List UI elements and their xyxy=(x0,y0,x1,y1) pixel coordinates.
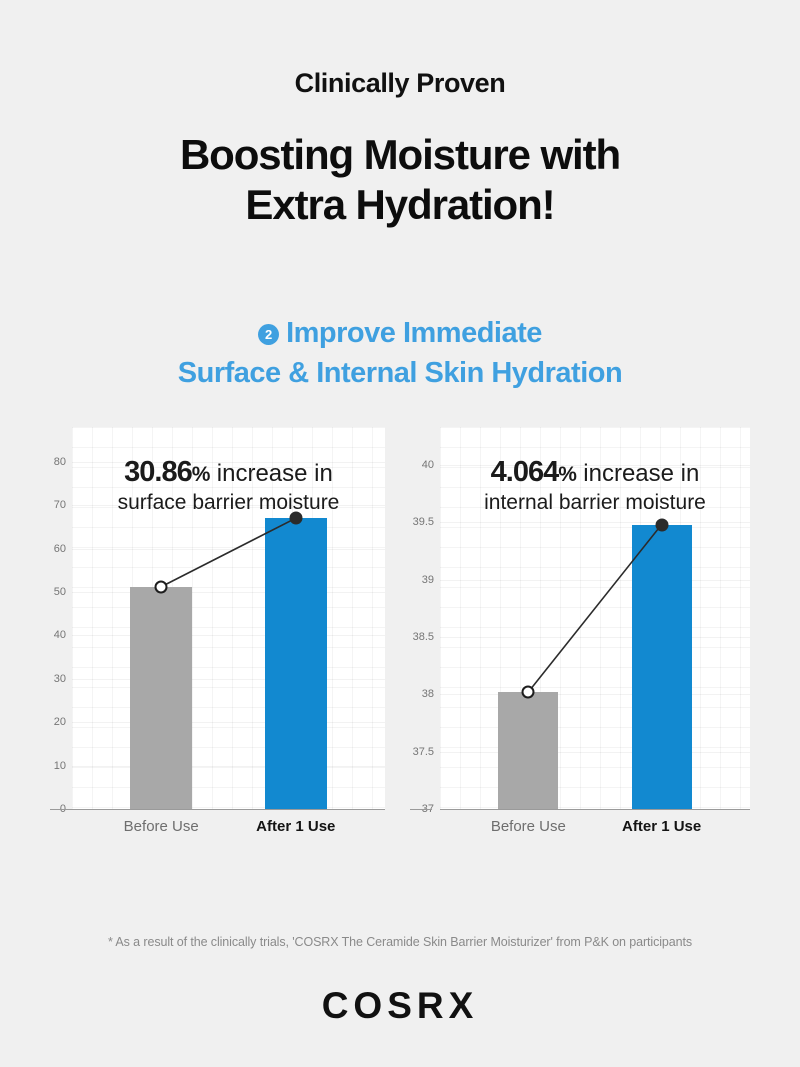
annotation-percent-left: % xyxy=(192,463,210,486)
y-axis-tick-label: 70 xyxy=(54,499,66,511)
x-axis-tail-left xyxy=(50,809,72,810)
x-axis-line-right xyxy=(440,809,750,810)
y-axis-tick-label: 40 xyxy=(422,459,434,471)
gridline xyxy=(72,679,385,680)
y-axis-tick-label: 60 xyxy=(54,543,66,555)
data-point-marker-after-1-use xyxy=(655,518,668,531)
gridline xyxy=(440,694,750,695)
x-axis-label-before-use: Before Use xyxy=(124,818,199,835)
gridline xyxy=(440,637,750,638)
annotation-line-2-left: surface barrier moisture xyxy=(72,490,385,516)
annotation-line-2-right: internal barrier moisture xyxy=(440,490,750,516)
x-axis-label-before-use: Before Use xyxy=(491,818,566,835)
y-axis-tick-label: 10 xyxy=(54,760,66,772)
y-axis-tick-label: 38.5 xyxy=(413,631,434,643)
y-axis-tick-label: 20 xyxy=(54,716,66,728)
chart-annotation-left: 30.86% increase in surface barrier moist… xyxy=(72,455,385,516)
charts-container: 30.86% increase in surface barrier moist… xyxy=(0,427,800,842)
chart-surface-barrier-moisture: 30.86% increase in surface barrier moist… xyxy=(50,427,385,842)
bar-after-1-use xyxy=(632,525,692,809)
subtitle-line-2: Surface & Internal Skin Hydration xyxy=(0,353,800,393)
section-subtitle: 2Improve Immediate Surface & Internal Sk… xyxy=(0,313,800,393)
y-axis-tick-label: 50 xyxy=(54,586,66,598)
gridline xyxy=(72,766,385,767)
gridline xyxy=(440,580,750,581)
x-axis-label-after-1-use: After 1 Use xyxy=(256,818,335,835)
y-axis-tick-label: 39 xyxy=(422,574,434,586)
y-axis-tick-label: 39.5 xyxy=(413,516,434,528)
gridline xyxy=(72,592,385,593)
headline-line-2: Extra Hydration! xyxy=(0,180,800,230)
x-axis-tail-right xyxy=(410,809,432,810)
bar-after-1-use xyxy=(265,518,327,809)
annotation-percent-right: % xyxy=(558,463,576,486)
page-title: Boosting Moisture with Extra Hydration! xyxy=(0,130,800,229)
bar-before-use xyxy=(130,587,192,809)
gridline xyxy=(72,462,385,463)
y-axis-tick-label: 80 xyxy=(54,456,66,468)
gridline xyxy=(72,505,385,506)
plot-area-left: 30.86% increase in surface barrier moist… xyxy=(72,427,385,810)
y-axis-tick-label: 38 xyxy=(422,688,434,700)
chart-internal-barrier-moisture: 4.064% increase in internal barrier mois… xyxy=(410,427,750,842)
gridline xyxy=(72,722,385,723)
gridline xyxy=(440,752,750,753)
headline-line-1: Boosting Moisture with xyxy=(0,130,800,180)
step-number-badge: 2 xyxy=(258,324,279,345)
x-axis-label-after-1-use: After 1 Use xyxy=(622,818,701,835)
data-point-marker-before-use xyxy=(522,685,535,698)
y-axis-tick-label: 40 xyxy=(54,629,66,641)
gridline xyxy=(72,549,385,550)
y-axis-tick-label: 37.5 xyxy=(413,746,434,758)
gridline xyxy=(440,522,750,523)
data-point-marker-before-use xyxy=(155,580,168,593)
eyebrow-text: Clinically Proven xyxy=(0,68,800,99)
annotation-value-right: 4.064 xyxy=(491,456,559,488)
bar-before-use xyxy=(498,692,558,809)
annotation-line-1-right: 4.064% increase in xyxy=(440,455,750,490)
annotation-line-1-left: 30.86% increase in xyxy=(72,455,385,490)
annotation-rest-left: increase in xyxy=(210,460,333,487)
plot-area-right: 4.064% increase in internal barrier mois… xyxy=(440,427,750,810)
x-axis-line-left xyxy=(72,809,385,810)
gridline xyxy=(72,635,385,636)
y-axis-tick-label: 30 xyxy=(54,673,66,685)
data-point-marker-after-1-use xyxy=(289,512,302,525)
brand-logo: COSRX xyxy=(0,985,800,1027)
footnote: * As a result of the clinically trials, … xyxy=(0,935,800,949)
subtitle-line-1: 2Improve Immediate xyxy=(0,313,800,353)
gridline xyxy=(440,465,750,466)
subtitle-text-1: Improve Immediate xyxy=(286,317,542,349)
